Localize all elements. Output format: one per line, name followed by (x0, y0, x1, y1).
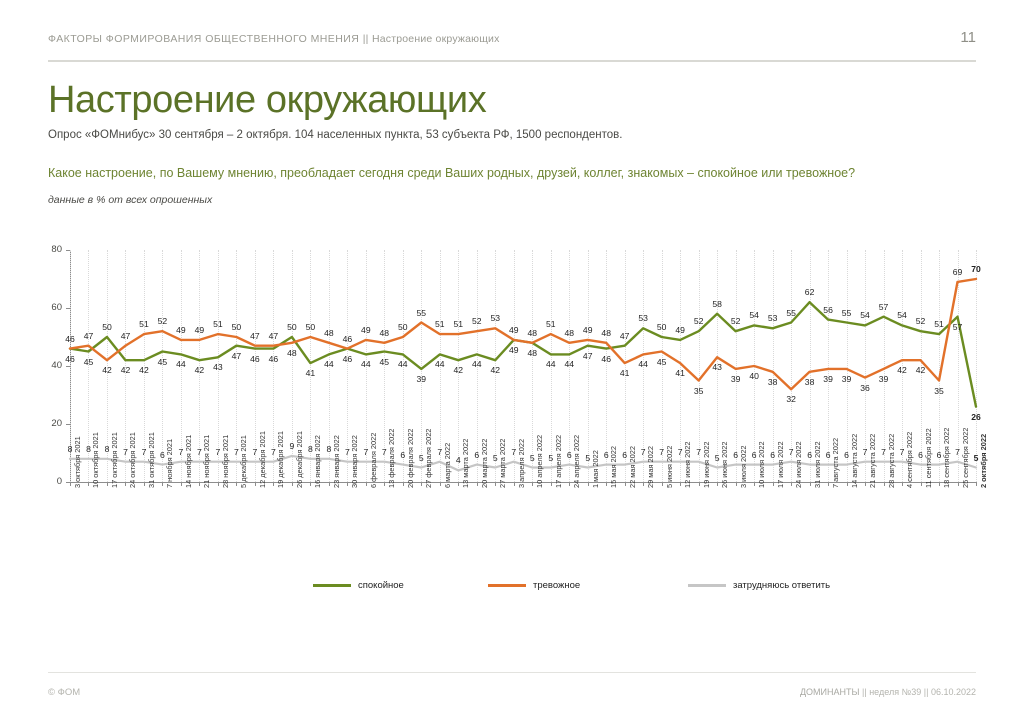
x-axis-label: 22 мая 2022 (628, 446, 637, 488)
data-label-calm: 42 (131, 365, 157, 375)
data-label-calm: 41 (297, 368, 323, 378)
line-chart: 0204060804646845478504284247742517455264… (48, 236, 976, 576)
legend-label: затрудняюсь ответить (733, 580, 830, 591)
x-axis-label: 15 мая 2022 (609, 446, 618, 488)
page-number: 11 (960, 29, 976, 46)
x-axis-label: 27 марта 2022 (498, 439, 507, 488)
x-axis-label: 31 октября 2021 (147, 432, 156, 488)
data-label-anxious: 38 (760, 377, 786, 387)
units-note: данные в % от всех опрошенных (48, 194, 212, 206)
x-axis-label: 13 февраля 2022 (387, 429, 396, 488)
data-label-anxious: 47 (260, 331, 286, 341)
data-label-calm: 46 (334, 334, 360, 344)
x-axis-label: 10 апреля 2022 (535, 435, 544, 488)
data-label-anxious: 39 (871, 374, 897, 384)
x-axis-label: 20 февраля 2022 (406, 429, 415, 488)
data-label-anxious: 32 (778, 394, 804, 404)
legend-swatch-icon (313, 584, 351, 587)
data-label-calm: 58 (704, 299, 730, 309)
x-axis-label: 23 января 2022 (332, 435, 341, 488)
x-axis-label: 12 декабря 2021 (258, 431, 267, 488)
slide-page: ФАКТОРЫ ФОРМИРОВАНИЯ ОБЩЕСТВЕННОГО МНЕНИ… (0, 0, 1024, 725)
page-header: ФАКТОРЫ ФОРМИРОВАНИЯ ОБЩЕСТВЕННОГО МНЕНИ… (48, 33, 976, 63)
legend-item[interactable]: спокойное (313, 580, 404, 591)
x-axis-label: 18 сентября 2022 (942, 428, 951, 488)
x-axis-label: 3 апреля 2022 (517, 439, 526, 488)
data-label-calm: 55 (778, 308, 804, 318)
data-label-anxious: 53 (482, 313, 508, 323)
x-axis-label: 3 июля 2022 (739, 446, 748, 488)
x-axis-label: 21 ноября 2021 (202, 435, 211, 488)
header-section: Настроение окружающих (372, 33, 500, 45)
data-label-calm: 44 (556, 359, 582, 369)
footer-copyright: © ФОМ (48, 687, 80, 698)
x-axis-label: 12 июня 2022 (683, 441, 692, 488)
legend-item[interactable]: затрудняюсь ответить (688, 580, 830, 591)
x-axis-label: 2 октября 2022 (979, 434, 988, 488)
x-axis-label: 5 июня 2022 (665, 446, 674, 488)
x-axis-label: 26 июня 2022 (720, 441, 729, 488)
data-label-calm: 43 (205, 362, 231, 372)
x-axis-label: 21 августа 2022 (868, 434, 877, 488)
x-axis-label: 1 мая 2022 (591, 450, 600, 488)
x-axis-label: 6 марта 2022 (443, 443, 452, 488)
x-axis-label: 3 октября 2021 (73, 436, 82, 488)
data-label-anxious: 48 (279, 348, 305, 358)
x-axis-label: 25 сентября 2022 (961, 428, 970, 488)
data-label-anxious: 36 (852, 383, 878, 393)
x-axis-label: 31 июля 2022 (813, 441, 822, 488)
data-label-anxious: 42 (908, 365, 934, 375)
x-axis-label: 6 февраля 2022 (369, 433, 378, 488)
data-label-calm: 42 (482, 365, 508, 375)
data-label-calm: 26 (963, 412, 989, 422)
x-axis-label: 24 июля 2022 (794, 441, 803, 488)
data-label-anxious: 43 (704, 362, 730, 372)
data-label-anxious: 41 (667, 368, 693, 378)
x-axis-label: 20 марта 2022 (480, 439, 489, 488)
data-label-calm: 54 (852, 310, 878, 320)
data-label-anxious: 35 (686, 386, 712, 396)
data-label-calm: 46 (593, 354, 619, 364)
footer-week: неделя №39 (869, 687, 921, 697)
data-label-anxious: 45 (649, 357, 675, 367)
data-label-calm: 57 (945, 322, 971, 332)
x-axis-label: 29 мая 2022 (646, 446, 655, 488)
footer-divider (48, 672, 976, 673)
header-separator: || (363, 33, 369, 45)
x-axis-label: 30 января 2022 (350, 435, 359, 488)
data-label-calm: 48 (519, 328, 545, 338)
data-label-calm: 47 (612, 331, 638, 341)
footer-sep-2: || (924, 687, 929, 697)
data-label-anxious: 47 (112, 331, 138, 341)
x-axis-label: 17 апреля 2022 (554, 435, 563, 488)
data-label-anxious: 47 (75, 331, 101, 341)
x-axis-label: 28 ноября 2021 (221, 435, 230, 488)
footer-sep-1: || (862, 687, 867, 697)
chart-legend: спокойноетревожноезатрудняюсь ответить (48, 580, 976, 600)
x-axis-label: 4 сентября 2022 (905, 432, 914, 488)
footer-brand: ДОМИНАНТЫ (800, 687, 860, 697)
x-axis-label: 10 июля 2022 (757, 441, 766, 488)
data-label-calm: 44 (390, 359, 416, 369)
legend-swatch-icon (688, 584, 726, 587)
x-axis-label: 17 июля 2022 (776, 441, 785, 488)
x-axis-label: 27 февраля 2022 (424, 429, 433, 488)
data-label-anxious: 50 (390, 322, 416, 332)
legend-label: спокойное (358, 580, 404, 591)
x-axis-label: 17 октября 2021 (110, 432, 119, 488)
x-axis-label: 28 августа 2022 (887, 434, 896, 488)
legend-item[interactable]: тревожное (488, 580, 580, 591)
data-label-calm: 39 (408, 374, 434, 384)
x-axis-label: 24 октября 2021 (128, 432, 137, 488)
footer-meta: ДОМИНАНТЫ || неделя №39 || 06.10.2022 (800, 687, 976, 697)
footer-date: 06.10.2022 (931, 687, 976, 697)
survey-question: Какое настроение, по Вашему мнению, прео… (48, 166, 855, 180)
data-label-calm: 62 (797, 287, 823, 297)
x-axis-label: 7 августа 2022 (831, 438, 840, 488)
data-label-calm: 49 (667, 325, 693, 335)
x-axis-label: 16 января 2022 (313, 435, 322, 488)
data-label-calm: 52 (686, 316, 712, 326)
survey-subtitle: Опрос «ФОМнибус» 30 сентября – 2 октября… (48, 129, 622, 141)
x-axis-label: 10 октября 2021 (91, 432, 100, 488)
x-axis-label: 5 декабря 2021 (239, 435, 248, 488)
header-eyebrow: ФАКТОРЫ ФОРМИРОВАНИЯ ОБЩЕСТВЕННОГО МНЕНИ… (48, 33, 359, 45)
header-divider (48, 60, 976, 62)
x-axis-label: 19 декабря 2021 (276, 431, 285, 488)
x-axis-label: 11 сентября 2022 (924, 428, 933, 488)
header-breadcrumb: ФАКТОРЫ ФОРМИРОВАНИЯ ОБЩЕСТВЕННОГО МНЕНИ… (48, 33, 976, 45)
data-label-anxious: 55 (408, 308, 434, 318)
x-axis-label: 13 марта 2022 (461, 439, 470, 488)
x-axis-label: 14 августа 2022 (850, 434, 859, 488)
legend-swatch-icon (488, 584, 526, 587)
legend-label: тревожное (533, 580, 580, 591)
data-label-anxious: 41 (612, 368, 638, 378)
page-title: Настроение окружающих (48, 78, 486, 122)
data-label-anxious: 35 (926, 386, 952, 396)
x-axis-label: 19 июня 2022 (702, 441, 711, 488)
data-label-anxious: 48 (519, 348, 545, 358)
data-label-anxious: 70 (963, 264, 989, 274)
x-axis-label: 7 ноября 2021 (165, 439, 174, 488)
x-axis-label: 26 декабря 2021 (295, 431, 304, 488)
x-axis-label: 14 ноября 2021 (184, 435, 193, 488)
x-axis-label: 24 апреля 2022 (572, 435, 581, 488)
